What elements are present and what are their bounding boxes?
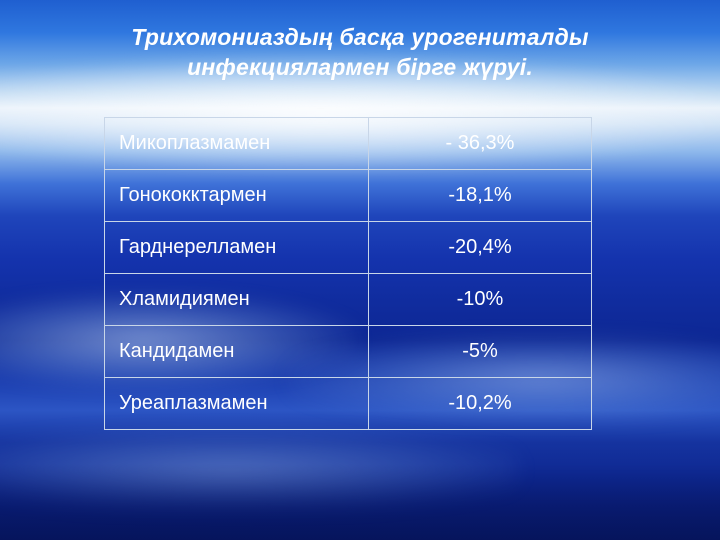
slide-title: Трихомониаздың басқа урогениталды инфекц… — [56, 22, 664, 82]
table-row: Гарднерелламен -20,4% — [105, 222, 592, 274]
table-row: Микоплазмамен - 36,3% — [105, 118, 592, 170]
data-table: Микоплазмамен - 36,3% Гонококктармен -18… — [104, 117, 592, 430]
background-bottom-shade — [0, 464, 720, 540]
slide-title-line-2: инфекциялармен бірге жүруі. — [56, 52, 664, 82]
table-cell-value: -20,4% — [369, 222, 592, 274]
table-cell-label: Гарднерелламен — [105, 222, 369, 274]
data-table-wrapper: Микоплазмамен - 36,3% Гонококктармен -18… — [104, 117, 591, 430]
table-cell-label: Кандидамен — [105, 326, 369, 378]
slide: Трихомониаздың басқа урогениталды инфекц… — [0, 0, 720, 540]
table-cell-label: Уреаплазмамен — [105, 378, 369, 430]
table-cell-value: -18,1% — [369, 170, 592, 222]
table-cell-value: - 36,3% — [369, 118, 592, 170]
table-row: Кандидамен -5% — [105, 326, 592, 378]
table-cell-value: -5% — [369, 326, 592, 378]
slide-title-line-1: Трихомониаздың басқа урогениталды — [56, 22, 664, 52]
table-cell-label: Хламидиямен — [105, 274, 369, 326]
table-cell-value: -10% — [369, 274, 592, 326]
table-cell-label: Микоплазмамен — [105, 118, 369, 170]
table-cell-label: Гонококктармен — [105, 170, 369, 222]
table-row: Гонококктармен -18,1% — [105, 170, 592, 222]
table-row: Хламидиямен -10% — [105, 274, 592, 326]
table-row: Уреаплазмамен -10,2% — [105, 378, 592, 430]
table-cell-value: -10,2% — [369, 378, 592, 430]
